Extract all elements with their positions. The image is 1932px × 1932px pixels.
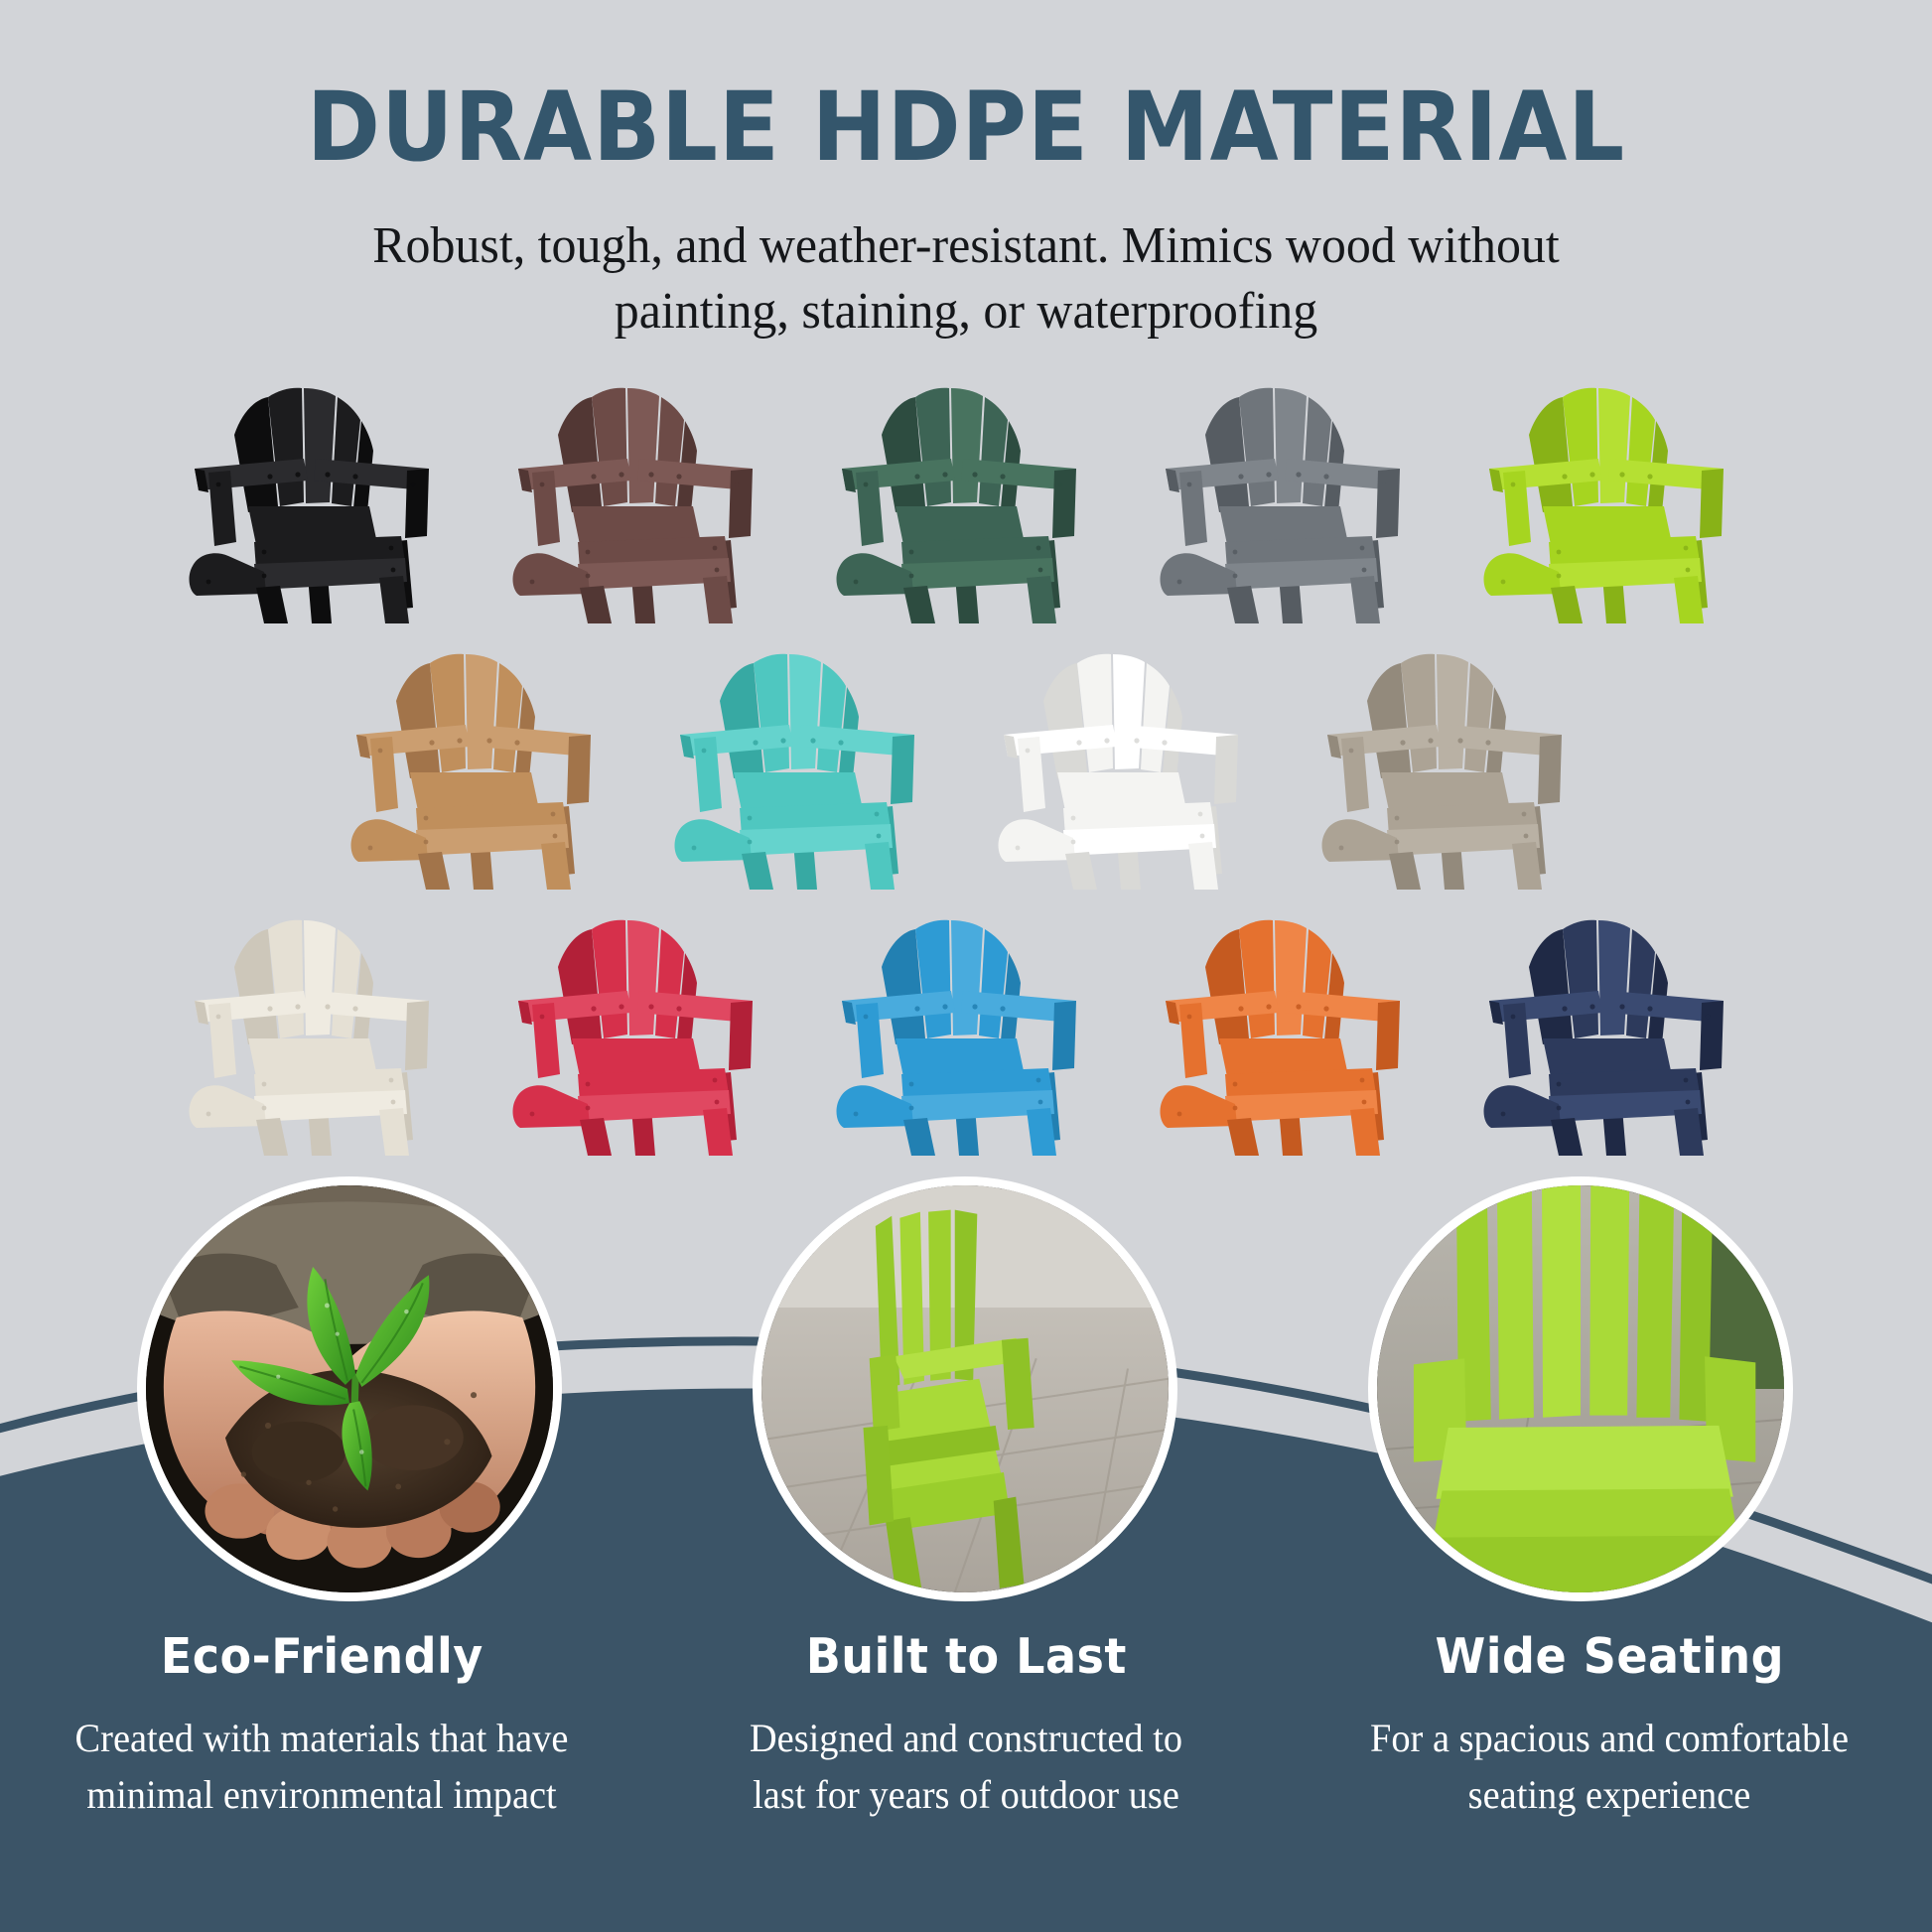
adirondack-chair-icon — [1128, 890, 1451, 1156]
feature-captions: Eco-Friendly Created with materials that… — [0, 1628, 1932, 1824]
chair-row-1 — [0, 357, 1932, 623]
adirondack-chair-icon — [481, 890, 804, 1156]
badge-eco-photo — [137, 1176, 562, 1601]
adirondack-chair-icon — [1451, 357, 1775, 623]
adirondack-chair-icon — [319, 623, 642, 890]
feature-desc-built: Designed and constructed to last for yea… — [709, 1711, 1223, 1824]
chair-swatch-teak[interactable] — [319, 623, 642, 890]
chair-row-3 — [0, 890, 1932, 1156]
adirondack-chair-icon — [804, 357, 1128, 623]
chair-swatch-white[interactable] — [966, 623, 1290, 890]
adirondack-chair-icon — [481, 357, 804, 623]
chair-swatch-ivory[interactable] — [157, 890, 481, 1156]
feature-desc-built-line-2: last for years of outdoor use — [709, 1767, 1223, 1824]
feature-desc-eco-line-2: minimal environmental impact — [46, 1767, 599, 1824]
page-subtitle: Robust, tough, and weather-resistant. Mi… — [333, 213, 1600, 345]
feature-desc-eco: Created with materials that have minimal… — [46, 1711, 599, 1824]
adirondack-chair-icon — [966, 623, 1290, 890]
chair-swatch-dark-green[interactable] — [804, 357, 1128, 623]
subtitle-line-1: Robust, tough, and weather-resistant. Mi… — [333, 213, 1600, 280]
badge-chair-photo — [753, 1176, 1177, 1601]
chair-swatch-orange[interactable] — [1128, 890, 1451, 1156]
feature-eco-friendly: Eco-Friendly Created with materials that… — [0, 1628, 644, 1824]
feature-desc-wide-line-2: seating experience — [1343, 1767, 1877, 1824]
feature-desc-wide: For a spacious and comfortable seating e… — [1343, 1711, 1877, 1824]
feature-built-to-last: Built to Last Designed and constructed t… — [644, 1628, 1289, 1824]
feature-desc-eco-line-1: Created with materials that have — [46, 1711, 599, 1767]
feature-title-eco: Eco-Friendly — [19, 1628, 624, 1685]
chair-swatch-taupe[interactable] — [1290, 623, 1613, 890]
chair-swatch-red[interactable] — [481, 890, 804, 1156]
badge-seat-photo — [1368, 1176, 1793, 1601]
feature-title-built: Built to Last — [663, 1628, 1269, 1685]
feature-badges — [0, 1176, 1932, 1613]
feature-title-wide: Wide Seating — [1308, 1628, 1913, 1685]
feature-wide-seating: Wide Seating For a spacious and comforta… — [1288, 1628, 1932, 1824]
chair-swatch-turquoise[interactable] — [642, 623, 966, 890]
subtitle-line-2: painting, staining, or waterproofing — [333, 279, 1600, 345]
chair-color-grid — [0, 357, 1932, 1156]
adirondack-chair-icon — [1290, 623, 1613, 890]
adirondack-chair-icon — [804, 890, 1128, 1156]
chair-swatch-gray[interactable] — [1128, 357, 1451, 623]
adirondack-chair-icon — [157, 890, 481, 1156]
chair-swatch-lime-green[interactable] — [1451, 357, 1775, 623]
chair-swatch-black[interactable] — [157, 357, 481, 623]
adirondack-chair-icon — [642, 623, 966, 890]
chair-swatch-blue[interactable] — [804, 890, 1128, 1156]
page-title: DURABLE HDPE MATERIAL — [68, 77, 1864, 178]
feature-desc-wide-line-1: For a spacious and comfortable — [1343, 1711, 1877, 1767]
adirondack-chair-icon — [1128, 357, 1451, 623]
chair-swatch-brown[interactable] — [481, 357, 804, 623]
adirondack-chair-icon — [157, 357, 481, 623]
chair-row-2 — [0, 623, 1932, 890]
infographic-canvas: DURABLE HDPE MATERIAL Robust, tough, and… — [0, 0, 1932, 1932]
adirondack-chair-icon — [1451, 890, 1775, 1156]
chair-swatch-navy[interactable] — [1451, 890, 1775, 1156]
feature-desc-built-line-1: Designed and constructed to — [709, 1711, 1223, 1767]
header: DURABLE HDPE MATERIAL Robust, tough, and… — [0, 77, 1932, 345]
eco-photo-image — [146, 1185, 553, 1592]
seat-photo-image — [1377, 1185, 1784, 1592]
chair-photo-image — [761, 1185, 1169, 1592]
